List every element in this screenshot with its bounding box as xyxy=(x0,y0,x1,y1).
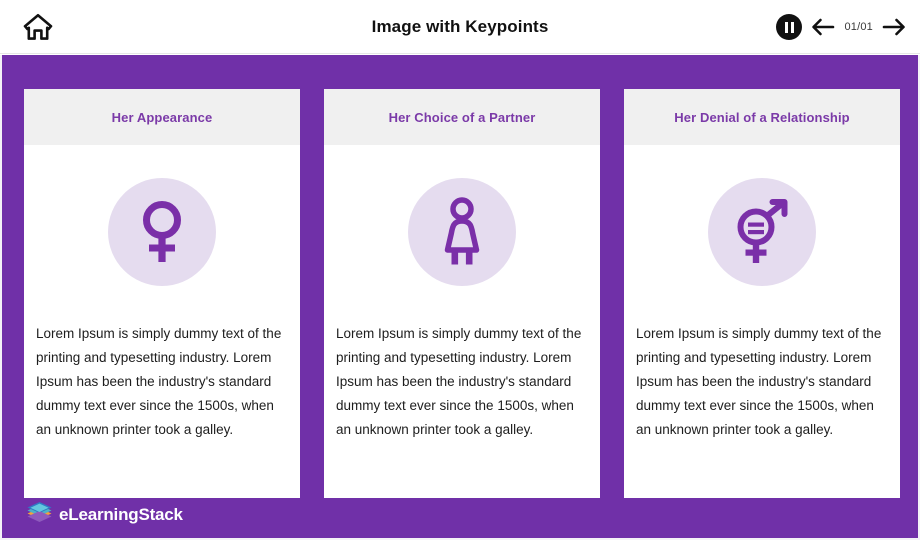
card-icon-circle xyxy=(708,178,816,286)
card-header: Her Appearance xyxy=(24,89,300,145)
card-header: Her Denial of a Relationship xyxy=(624,89,900,145)
top-toolbar: Image with Keypoints 01/01 xyxy=(0,0,920,54)
card-title: Her Choice of a Partner xyxy=(389,110,536,125)
card-description: Lorem Ipsum is simply dummy text of the … xyxy=(324,322,600,442)
card-body: Lorem Ipsum is simply dummy text of the … xyxy=(324,145,600,498)
card-icon-circle xyxy=(408,178,516,286)
card-header: Her Choice of a Partner xyxy=(324,89,600,145)
keypoint-card[interactable]: Her Denial of a Relationship xyxy=(624,89,900,498)
card-body: Lorem Ipsum is simply dummy text of the … xyxy=(24,145,300,498)
brand-logo[interactable]: eLearningStack xyxy=(26,502,183,527)
keypoint-card-list: Her Appearance Lorem Ipsum is simply dum… xyxy=(24,89,900,498)
arrow-right-icon xyxy=(882,18,906,36)
woman-figure-icon xyxy=(436,197,488,267)
previous-slide-button[interactable] xyxy=(811,18,835,36)
pause-icon xyxy=(785,22,794,33)
card-title: Her Appearance xyxy=(112,110,213,125)
stacked-layers-logo-icon xyxy=(26,502,53,527)
venus-female-symbol-icon xyxy=(133,198,191,266)
card-description: Lorem Ipsum is simply dummy text of the … xyxy=(624,322,900,442)
slide-counter: 01/01 xyxy=(844,21,873,33)
card-description: Lorem Ipsum is simply dummy text of the … xyxy=(24,322,300,442)
brand-logo-text: eLearningStack xyxy=(59,505,183,525)
card-icon-circle xyxy=(108,178,216,286)
card-title: Her Denial of a Relationship xyxy=(674,110,849,125)
slide-player: Image with Keypoints 01/01 xyxy=(0,0,920,540)
next-slide-button[interactable] xyxy=(882,18,906,36)
playback-controls: 01/01 xyxy=(776,12,906,42)
keypoint-card[interactable]: Her Appearance Lorem Ipsum is simply dum… xyxy=(24,89,300,498)
arrow-left-icon xyxy=(811,18,835,36)
pause-button[interactable] xyxy=(776,14,802,40)
gender-equality-symbol-icon xyxy=(727,197,797,267)
slide-canvas: Her Appearance Lorem Ipsum is simply dum… xyxy=(0,55,920,540)
keypoint-card[interactable]: Her Choice of a Partner Lorem Ipsum is s… xyxy=(324,89,600,498)
card-body: Lorem Ipsum is simply dummy text of the … xyxy=(624,145,900,498)
